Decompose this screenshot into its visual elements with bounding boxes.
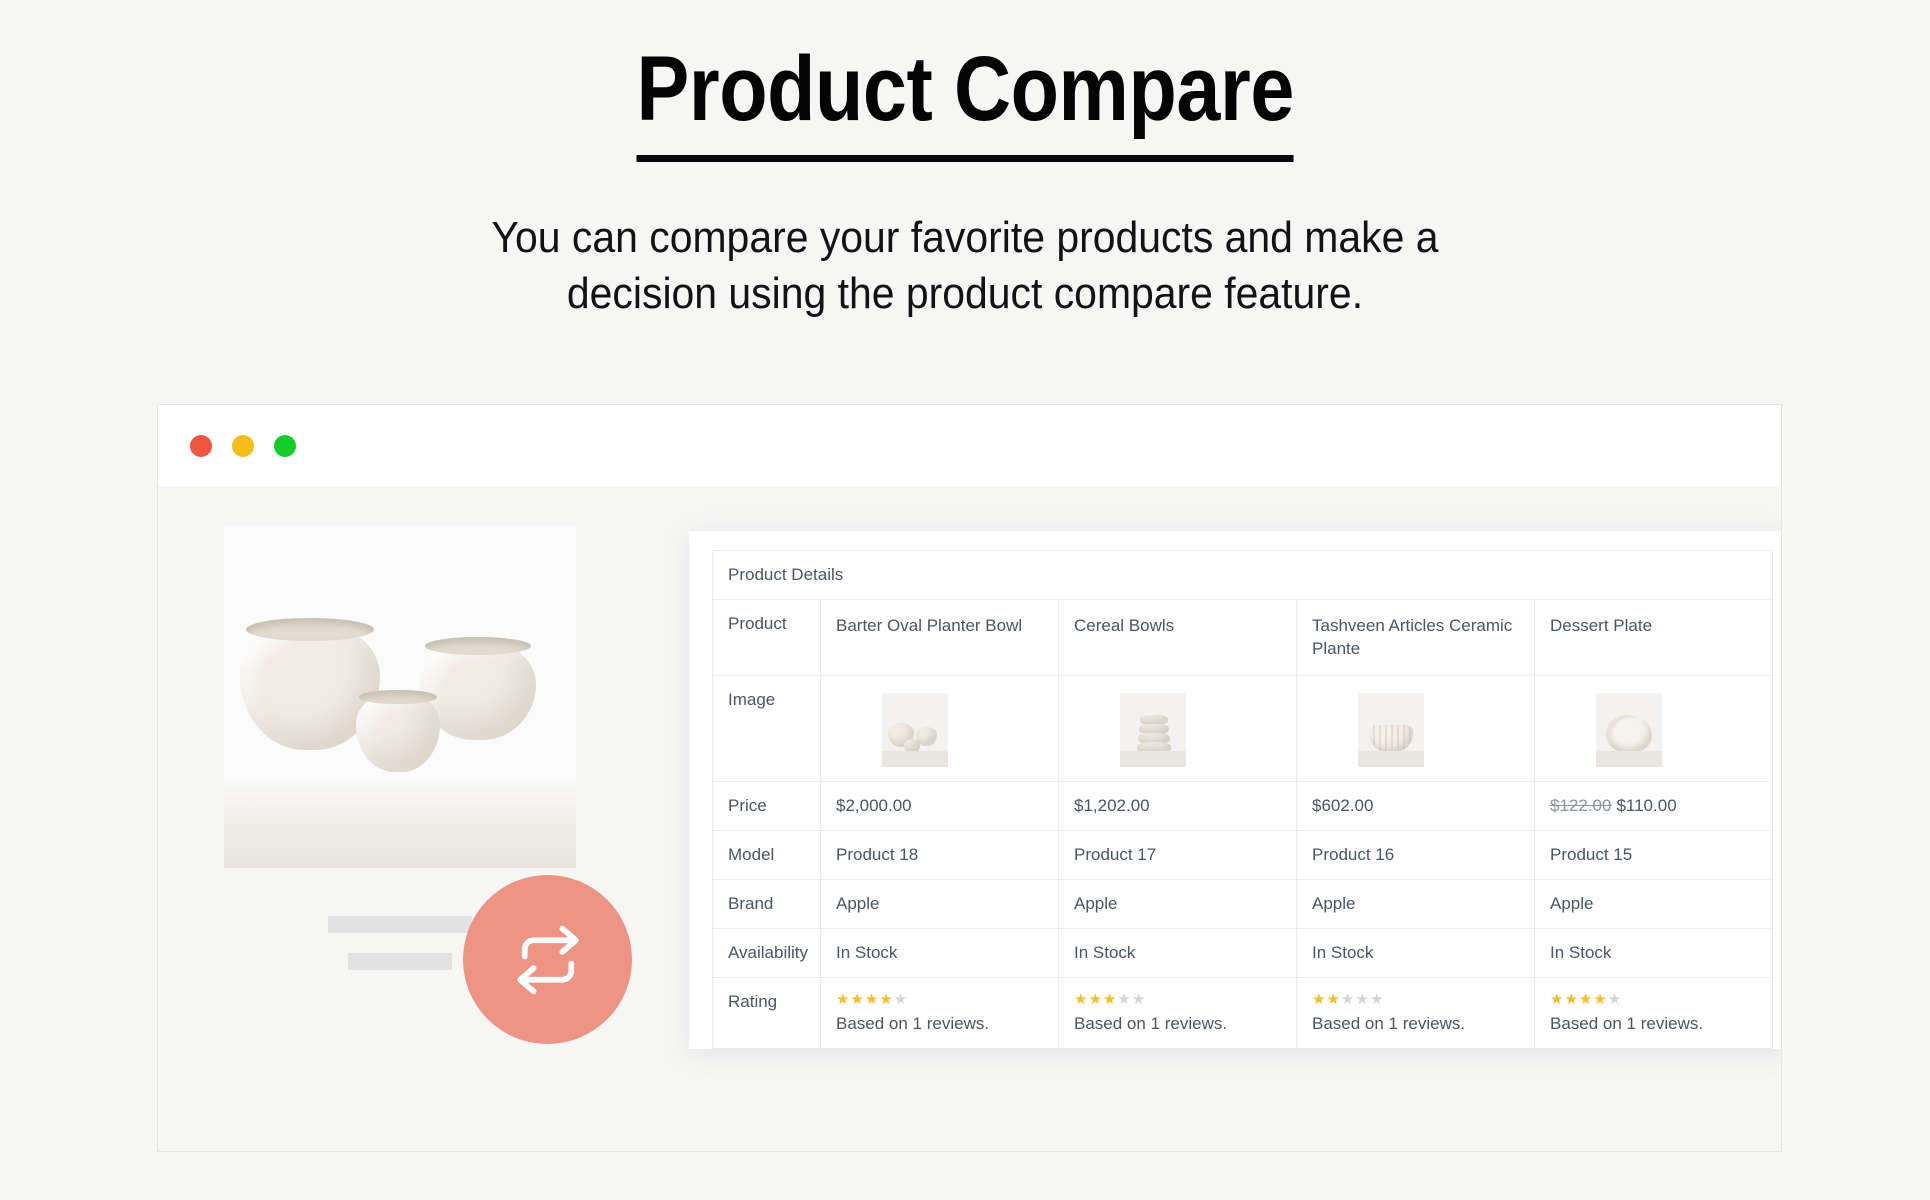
price-current: $110.00 [1616,796,1676,815]
compare-button[interactable] [463,875,632,1044]
product-image-cell-4[interactable] [1535,675,1773,781]
product-image [224,526,576,868]
table-row-rating: Rating ★★★★★ Based on 1 reviews. ★★★★★ B… [713,977,1773,1048]
product-brand-1: Apple [821,879,1059,928]
window-close-dot[interactable] [190,435,212,457]
window-minimize-dot[interactable] [232,435,254,457]
section-title: Product Details [713,551,1773,600]
table-row-product: Product Barter Oval Planter Bowl Cereal … [713,600,1773,676]
thumb-floor [1596,751,1662,767]
product-rating-4: ★★★★★ Based on 1 reviews. [1535,977,1773,1048]
browser-viewport: Product Details Product Barter Oval Plan… [158,486,1781,1151]
thumb-shape [1612,717,1652,753]
hero-section: Product Compare You can compare your fav… [0,0,1930,321]
product-image-cell-2[interactable] [1059,675,1297,781]
price-current: $2,000.00 [836,796,912,815]
product-model-4: Product 15 [1535,830,1773,879]
product-model-3: Product 16 [1297,830,1535,879]
table-row-image: Image [713,675,1773,781]
review-count-1: Based on 1 reviews. [836,1014,1043,1034]
product-availability-2: In Stock [1059,928,1297,977]
product-availability-4: In Stock [1535,928,1773,977]
bowl-small-shape [356,692,440,772]
product-name-1[interactable]: Barter Oval Planter Bowl [821,600,1059,676]
thumb-floor [882,751,948,767]
compare-arrows-icon [505,917,591,1003]
thumb-floor [1120,751,1186,767]
product-thumbnail-2[interactable] [1120,693,1186,767]
price-current: $1,202.00 [1074,796,1150,815]
row-label-model: Model [713,830,821,879]
product-rating-3: ★★★★★ Based on 1 reviews. [1297,977,1535,1048]
window-controls [190,435,296,457]
star-rating-icon: ★★★★★ [836,992,1043,1007]
compare-table: Product Details Product Barter Oval Plan… [712,550,1773,1049]
product-thumbnail-1[interactable] [882,693,948,767]
window-maximize-dot[interactable] [274,435,296,457]
row-label-brand: Brand [713,879,821,928]
star-rating-icon: ★★★★★ [1074,992,1281,1007]
review-count-2: Based on 1 reviews. [1074,1014,1281,1034]
product-thumbnail-3[interactable] [1358,693,1424,767]
product-price-1: $2,000.00 [821,781,1059,830]
product-model-1: Product 18 [821,830,1059,879]
page-subtitle: You can compare your favorite products a… [416,210,1513,321]
placeholder-bar-title [328,916,472,933]
product-availability-1: In Stock [821,928,1059,977]
table-row-price: Price $2,000.00 $1,202.00 $602.00 [713,781,1773,830]
product-price-2: $1,202.00 [1059,781,1297,830]
screenshot-frame: Product Details Product Barter Oval Plan… [157,404,1782,1152]
star-rating-icon: ★★★★★ [1550,992,1757,1007]
compare-table-panel: Product Details Product Barter Oval Plan… [689,531,1781,1049]
review-count-3: Based on 1 reviews. [1312,1014,1519,1034]
page-root: Product Compare You can compare your fav… [0,0,1930,1200]
table-row-model: Model Product 18 Product 17 Product 16 P… [713,830,1773,879]
product-rating-1: ★★★★★ Based on 1 reviews. [821,977,1059,1048]
review-count-4: Based on 1 reviews. [1550,1014,1757,1034]
price-current: $602.00 [1312,796,1373,815]
product-availability-3: In Stock [1297,928,1535,977]
page-title: Product Compare [636,40,1293,162]
product-brand-3: Apple [1297,879,1535,928]
product-name-4[interactable]: Dessert Plate [1535,600,1773,676]
table-section-header-row: Product Details [713,551,1773,600]
thumb-shape [1369,725,1413,753]
placeholder-bar-price [348,953,452,970]
product-name-3[interactable]: Tashveen Articles Ceramic Plante [1297,600,1535,676]
row-label-availability: Availability [713,928,821,977]
table-row-availability: Availability In Stock In Stock In Stock … [713,928,1773,977]
price-original: $122.00 [1550,796,1611,815]
star-rating-icon: ★★★★★ [1312,992,1519,1007]
row-label-rating: Rating [713,977,821,1048]
photo-floor-shadow [224,776,576,868]
row-label-product: Product [713,600,821,676]
product-name-2[interactable]: Cereal Bowls [1059,600,1297,676]
browser-chrome-bar [158,405,1781,486]
product-thumbnail-4[interactable] [1596,693,1662,767]
row-label-price: Price [713,781,821,830]
product-brand-4: Apple [1535,879,1773,928]
product-rating-2: ★★★★★ Based on 1 reviews. [1059,977,1297,1048]
product-model-2: Product 17 [1059,830,1297,879]
product-price-4: $122.00$110.00 [1535,781,1773,830]
thumb-floor [1358,751,1424,767]
product-image-cell-1[interactable] [821,675,1059,781]
product-image-cell-3[interactable] [1297,675,1535,781]
product-price-3: $602.00 [1297,781,1535,830]
row-label-image: Image [713,675,821,781]
table-row-brand: Brand Apple Apple Apple Apple [713,879,1773,928]
product-brand-2: Apple [1059,879,1297,928]
